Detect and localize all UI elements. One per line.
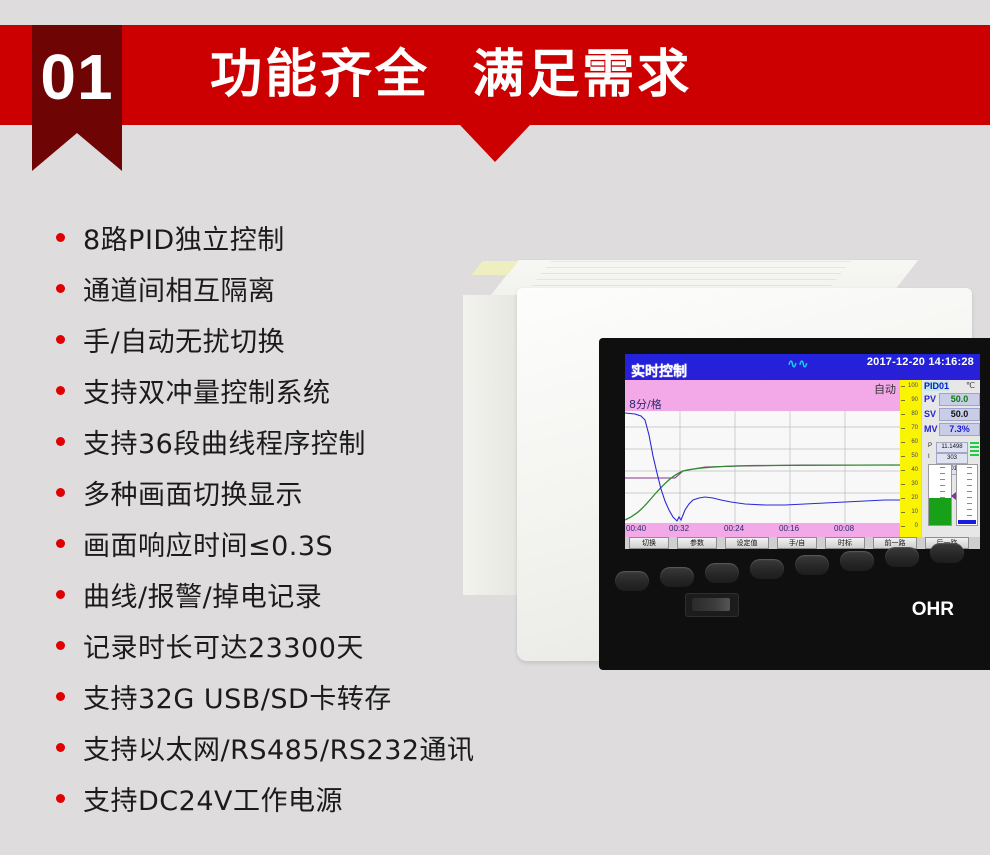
- bullet-icon: [56, 743, 65, 752]
- bullet-icon: [56, 641, 65, 650]
- time-tick: 00:40: [626, 524, 646, 533]
- y-tick: 60: [911, 439, 918, 445]
- pid-key: SV: [924, 409, 936, 419]
- pid-key: PV: [924, 394, 936, 404]
- bullet-icon: [56, 284, 65, 293]
- lcd-time-axis: 00:40 00:32 00:24 00:16 00:08: [625, 523, 900, 537]
- pid-unit-label: ℃: [966, 381, 975, 390]
- series-pv-line: [625, 413, 900, 521]
- y-tick: 70: [911, 425, 918, 431]
- time-tick: 00:08: [834, 524, 854, 533]
- page-title: 功能齐全 满足需求: [210, 25, 692, 125]
- pid-row-mv: MV 7.3%: [924, 423, 979, 436]
- feature-label: 通道间相互隔离: [83, 269, 276, 308]
- list-item: 支持以太网/RS485/RS232通讯: [56, 722, 526, 773]
- header-notch-triangle: [460, 125, 530, 162]
- pid-param-value: 11.1498: [936, 442, 968, 453]
- lcd-y-scale: 100 90 80 70 60 50 40 30 20 10 0: [900, 380, 921, 537]
- y-tick: 80: [911, 411, 918, 417]
- pid-value: 50.0: [939, 408, 980, 421]
- bullet-icon: [56, 692, 65, 701]
- hardware-button-1[interactable]: [615, 571, 649, 591]
- pid-row-sv: SV 50.0: [924, 408, 979, 421]
- hardware-button-2[interactable]: [660, 567, 694, 587]
- lcd-mode-label: 自动: [874, 381, 896, 397]
- lcd-screen-title: 实时控制: [631, 361, 687, 381]
- trend-chart-svg: [625, 411, 900, 523]
- bullet-icon: [56, 386, 65, 395]
- section-number: 01: [32, 25, 122, 130]
- usb-port-inner: [692, 598, 730, 611]
- soft-button-setpoint[interactable]: 设定值: [725, 537, 769, 549]
- bullet-icon: [56, 488, 65, 497]
- soft-button-manauto[interactable]: 手/自: [777, 537, 817, 549]
- lcd-soft-button-bar: 切换 参数 设定值 手/自 时标 前一路 后一路: [625, 537, 980, 549]
- feature-label: 支持DC24V工作电源: [83, 779, 343, 818]
- feature-label: 支持以太网/RS485/RS232通讯: [83, 728, 475, 767]
- device-lcd-screen[interactable]: 实时控制 ∿∿ 2017-12-20 14:16:28 自动 8分/格: [625, 354, 980, 549]
- pid-value: 50.0: [939, 393, 980, 406]
- y-tick: 30: [911, 481, 918, 487]
- time-tick: 00:24: [724, 524, 744, 533]
- y-tick: 0: [915, 523, 918, 529]
- bullet-icon: [56, 437, 65, 446]
- feature-label: 支持36段曲线程序控制: [83, 422, 366, 461]
- hardware-button-4[interactable]: [750, 559, 784, 579]
- chart-gridlines: [625, 411, 900, 523]
- pid-param-value: 303: [936, 453, 968, 464]
- device-photo: 实时控制 ∿∿ 2017-12-20 14:16:28 自动 8分/格: [455, 255, 990, 685]
- lcd-datetime: 2017-12-20 14:16:28: [867, 356, 974, 368]
- y-tick: 100: [908, 383, 918, 389]
- hardware-button-5[interactable]: [795, 555, 829, 575]
- y-tick: 40: [911, 467, 918, 473]
- y-tick: 20: [911, 495, 918, 501]
- brand-logo: OHR: [912, 599, 954, 621]
- lcd-pid-panel: PID01 ℃ PV 50.0 SV 50.0 MV 7.3% P 11.149…: [921, 380, 980, 537]
- gauge-fill: [958, 520, 976, 524]
- pid-param-key: I: [928, 454, 930, 460]
- bullet-icon: [56, 539, 65, 548]
- hardware-button-6[interactable]: [840, 551, 874, 571]
- pid-mv-gauge: [956, 464, 978, 526]
- lcd-trend-plot: [625, 411, 900, 523]
- wave-icon: ∿∿: [787, 356, 809, 372]
- list-item: 支持DC24V工作电源: [56, 773, 526, 824]
- hardware-button-3[interactable]: [705, 563, 739, 583]
- feature-label: 记录时长可达23300天: [83, 626, 364, 665]
- soft-button-params[interactable]: 参数: [677, 537, 717, 549]
- gauge-fill: [929, 498, 951, 525]
- bullet-icon: [56, 335, 65, 344]
- feature-label: 曲线/报警/掉电记录: [83, 575, 322, 614]
- bullet-icon: [56, 233, 65, 242]
- soft-button-switch[interactable]: 切换: [629, 537, 669, 549]
- feature-label: 支持32G USB/SD卡转存: [83, 677, 392, 716]
- bullet-icon: [56, 590, 65, 599]
- lcd-scale-row: 8分/格: [625, 396, 900, 411]
- device-bezel: 实时控制 ∿∿ 2017-12-20 14:16:28 自动 8分/格: [517, 288, 972, 661]
- feature-label: 多种画面切换显示: [83, 473, 303, 512]
- pid-output-gauge: [928, 464, 952, 526]
- hardware-button-8[interactable]: [930, 543, 964, 563]
- pid-param-p: P 11.1498: [928, 443, 974, 452]
- y-tick: 90: [911, 397, 918, 403]
- pid-alarm-bars-icon: [970, 442, 979, 458]
- feature-label: 8路PID独立控制: [83, 218, 285, 257]
- time-tick: 00:16: [779, 524, 799, 533]
- usb-port[interactable]: [685, 593, 739, 617]
- series-sv-line: [625, 465, 900, 478]
- feature-label: 手/自动无扰切换: [83, 320, 285, 359]
- pid-channel-label: PID01: [924, 381, 949, 391]
- pid-param-key: P: [928, 443, 932, 449]
- bullet-icon: [56, 794, 65, 803]
- lcd-mode-row: 自动: [625, 380, 900, 396]
- series-sp-line: [625, 465, 900, 520]
- gauge-ticks: [967, 467, 972, 523]
- hardware-button-7[interactable]: [885, 547, 919, 567]
- y-tick: 50: [911, 453, 918, 459]
- feature-label: 画面响应时间≤0.3S: [83, 524, 333, 563]
- pid-key: MV: [924, 424, 938, 434]
- pid-row-pv: PV 50.0: [924, 393, 979, 406]
- lcd-titlebar: 实时控制 ∿∿ 2017-12-20 14:16:28: [625, 354, 980, 380]
- pid-value: 7.3%: [939, 423, 980, 436]
- pid-param-i: I 303: [928, 454, 974, 463]
- y-tick: 10: [911, 509, 918, 515]
- time-tick: 00:32: [669, 524, 689, 533]
- feature-label: 支持双冲量控制系统: [83, 371, 331, 410]
- lcd-timescale-label: 8分/格: [629, 396, 662, 412]
- soft-button-timemark[interactable]: 时标: [825, 537, 865, 549]
